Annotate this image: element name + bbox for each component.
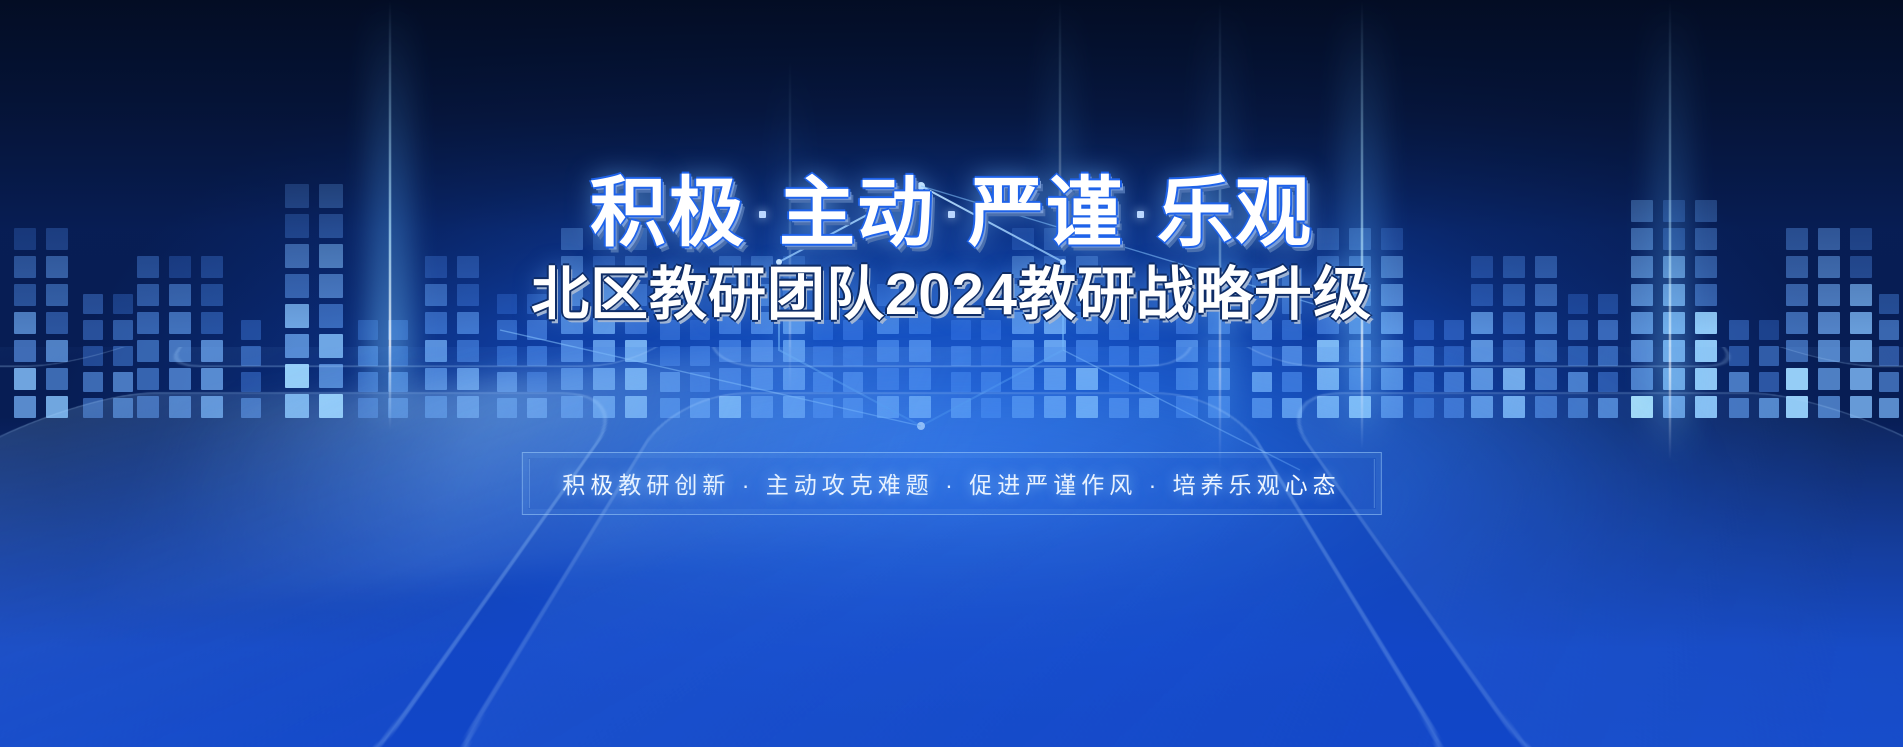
subheadline: 北区教研团队2024教研战略升级: [531, 266, 1372, 324]
tagline-text: 积极教研创新 · 主动攻克难题 · 促进严谨作风 · 培养乐观心态: [562, 466, 1340, 500]
headline-separator-dot: [1137, 211, 1144, 218]
headline: 积极 主动 严谨 乐观: [590, 176, 1313, 252]
headline-separator-dot: [759, 211, 766, 218]
tagline-bar: 积极教研创新 · 主动攻克难题 · 促进严谨作风 · 培养乐观心态: [521, 452, 1381, 515]
headline-word-2: 主动: [779, 176, 935, 252]
headline-separator-dot: [948, 211, 955, 218]
headline-word-3: 严谨: [968, 176, 1124, 252]
banner-content: 积极 主动 严谨 乐观 北区教研团队2024教研战略升级: [0, 0, 1903, 747]
headline-word-1: 积极: [590, 176, 746, 252]
headline-word-4: 乐观: [1157, 176, 1313, 252]
promo-banner: 积极 主动 严谨 乐观 北区教研团队2024教研战略升级 积极教研创新 · 主动…: [0, 0, 1903, 747]
